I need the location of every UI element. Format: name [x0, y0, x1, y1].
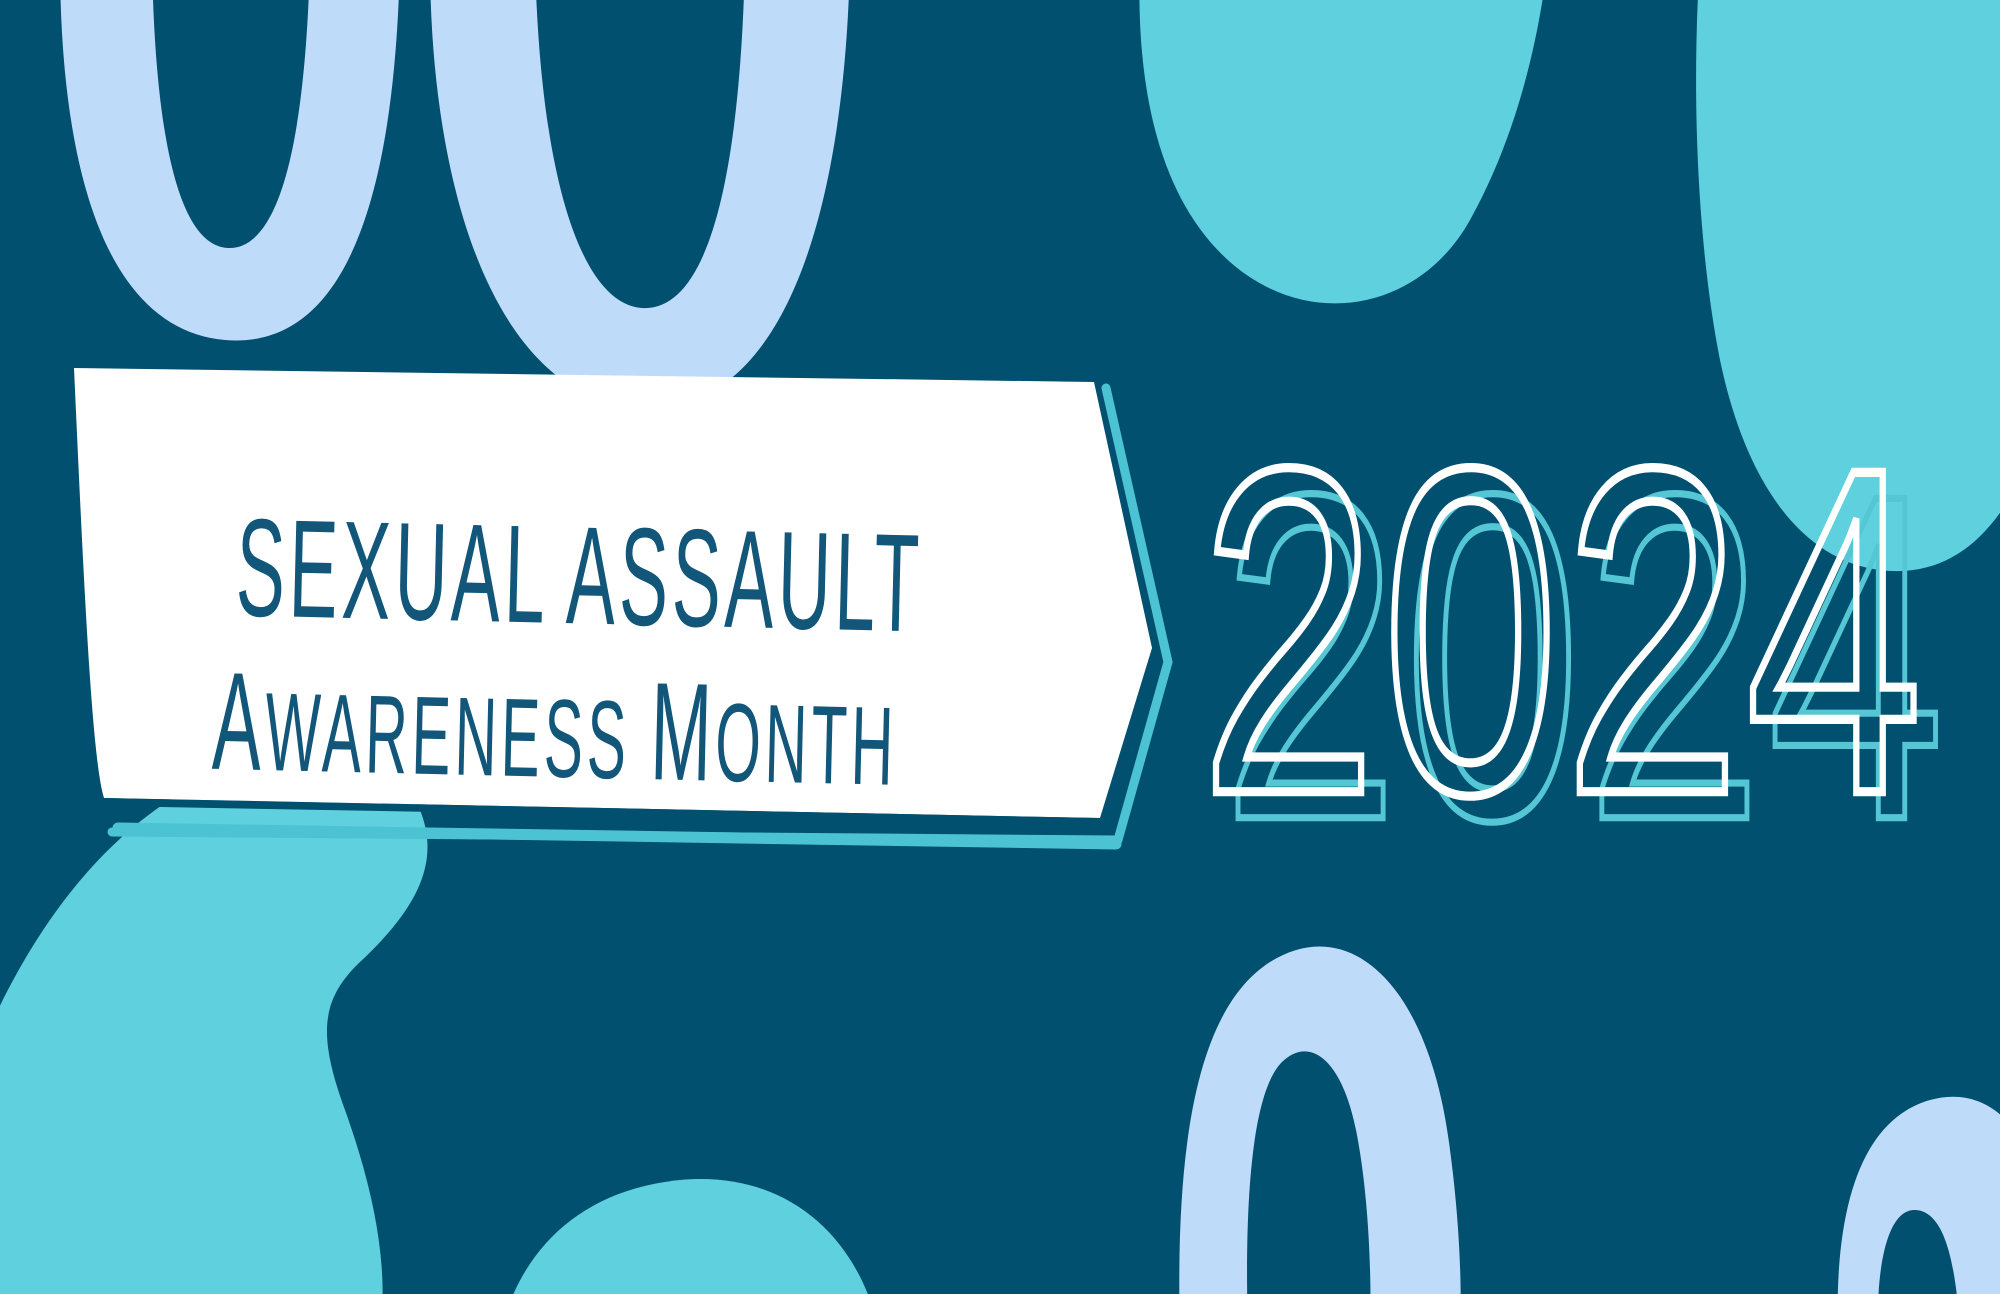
- banner-white-body: [74, 368, 1152, 818]
- year-block: 2024 2024: [1200, 400, 1960, 870]
- banner-shape-svg: [0, 420, 1250, 920]
- title-banner: SEXUAL ASSAULT AWARENESS MONTH: [0, 420, 1250, 920]
- poster-canvas: SEXUAL ASSAULT AWARENESS MONTH 2024 2024: [0, 0, 2000, 1294]
- year-label: 2024: [1200, 400, 1928, 864]
